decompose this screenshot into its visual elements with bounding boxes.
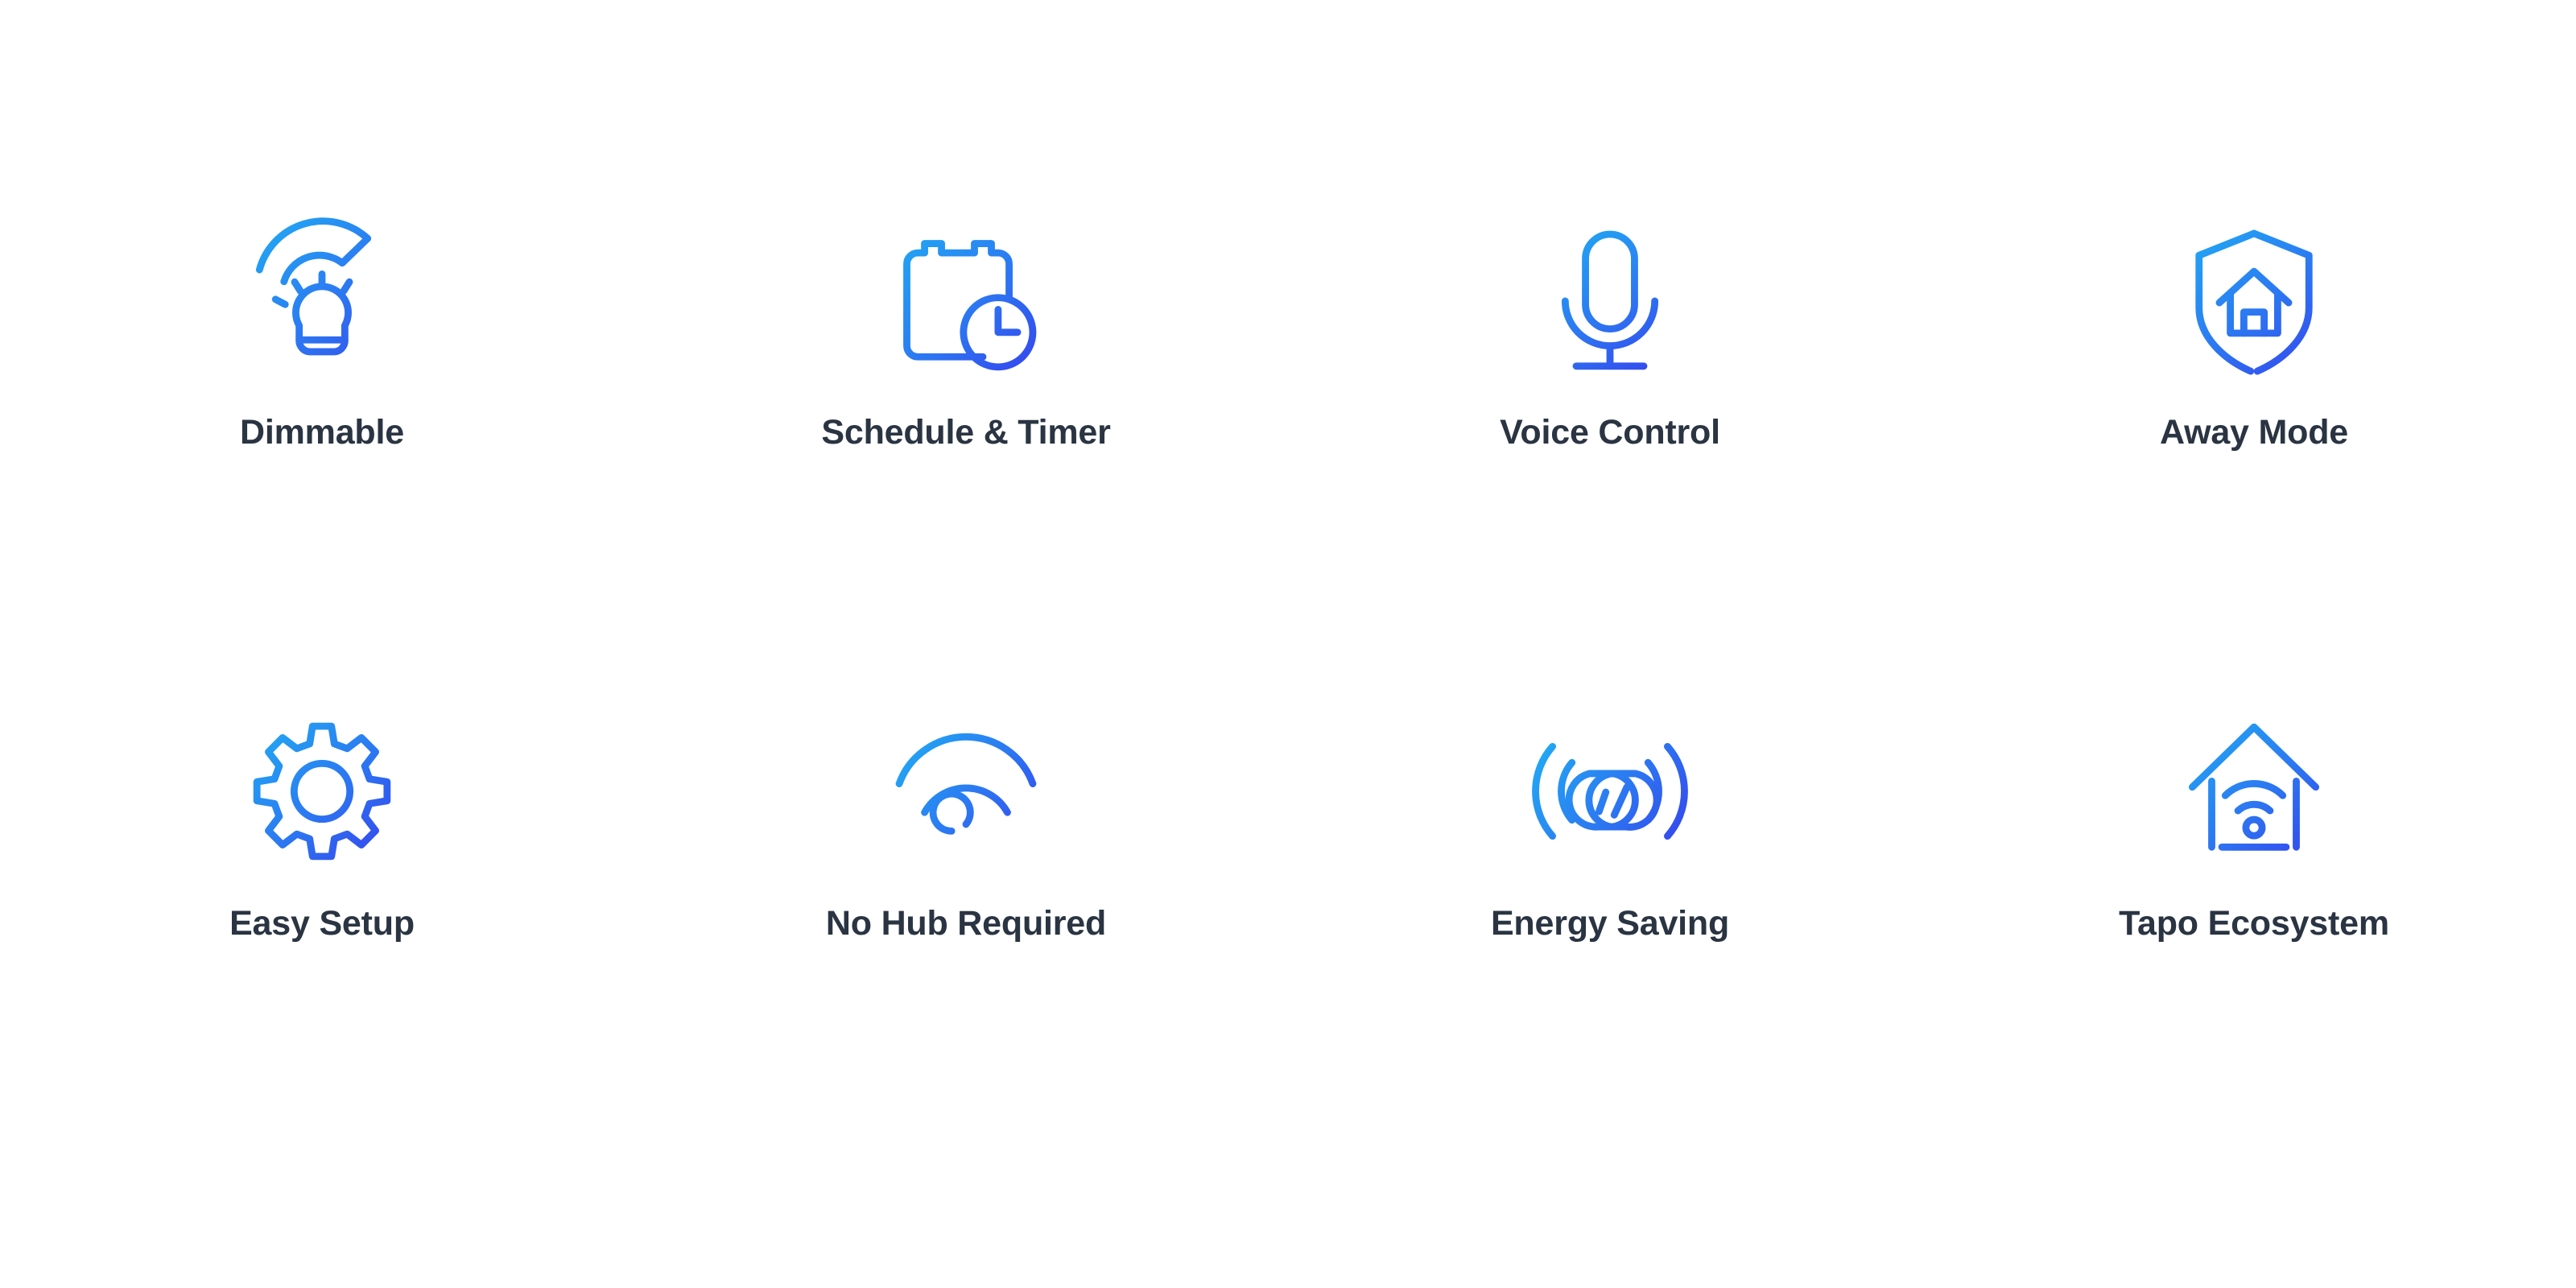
feature-card-no-hub-required[interactable]: No Hub Required — [644, 644, 1288, 1288]
feature-label-away-mode: Away Mode — [2160, 414, 2348, 452]
microphone-icon — [1525, 217, 1695, 386]
feature-grid: Dimmable S — [0, 0, 2576, 1288]
feature-card-easy-setup[interactable]: Easy Setup — [0, 644, 644, 1288]
leaf-signal-icon — [1525, 707, 1695, 876]
feature-label-tapo-ecosystem: Tapo Ecosystem — [2119, 905, 2389, 943]
feature-label-schedule-timer: Schedule & Timer — [821, 414, 1110, 452]
shield-house-icon — [2169, 217, 2339, 386]
gear-icon — [237, 707, 407, 876]
feature-label-no-hub-required: No Hub Required — [826, 905, 1106, 943]
feature-card-voice-control[interactable]: Voice Control — [1288, 0, 1932, 644]
feature-card-tapo-ecosystem[interactable]: Tapo Ecosystem — [1932, 644, 2576, 1288]
dimmable-bulb-icon — [237, 217, 407, 386]
feature-card-energy-saving[interactable]: Energy Saving — [1288, 644, 1932, 1288]
feature-label-easy-setup: Easy Setup — [229, 905, 415, 943]
smart-home-wifi-icon — [2169, 707, 2339, 876]
feature-card-schedule-timer[interactable]: Schedule & Timer — [644, 0, 1288, 644]
feature-card-dimmable[interactable]: Dimmable — [0, 0, 644, 644]
feature-label-energy-saving: Energy Saving — [1491, 905, 1729, 943]
wifi-icon — [881, 707, 1051, 876]
calendar-clock-icon — [881, 217, 1051, 386]
feature-label-voice-control: Voice Control — [1500, 414, 1720, 452]
feature-label-dimmable: Dimmable — [240, 414, 404, 452]
feature-card-away-mode[interactable]: Away Mode — [1932, 0, 2576, 644]
